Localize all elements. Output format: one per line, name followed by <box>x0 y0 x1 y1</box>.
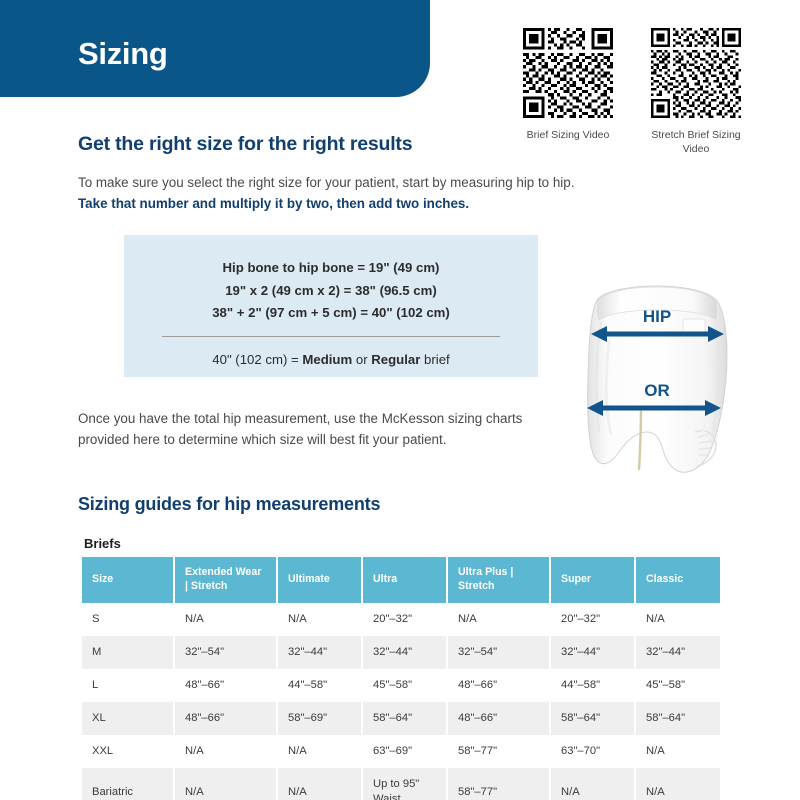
cell-extended-wear: 48"–66" <box>174 669 277 702</box>
cell-ultra: 20"–32" <box>362 603 447 636</box>
cell-size: XXL <box>82 735 174 768</box>
cell-size: M <box>82 636 174 669</box>
cell-ultra: 63"–69" <box>362 735 447 768</box>
hip-label: HIP <box>643 307 671 326</box>
cell-extended-wear: N/A <box>174 603 277 636</box>
calc-line-2: 19" x 2 (49 cm x 2) = 38" (96.5 cm) <box>154 280 508 303</box>
calc-divider <box>162 336 500 337</box>
cell-extended-wear: 32"–54" <box>174 636 277 669</box>
cell-super: 32"–44" <box>550 636 635 669</box>
column-header-classic: Classic <box>635 557 720 603</box>
sizing-page: Sizing <box>0 0 800 800</box>
product-illustration: HIP OR <box>575 282 745 477</box>
qr-item-brief[interactable]: Brief Sizing Video <box>520 28 616 156</box>
calc-result-prefix: 40" (102 cm) = <box>212 352 302 367</box>
sizing-guides-heading: Sizing guides for hip measurements <box>78 494 380 515</box>
section-heading: Get the right size for the right results <box>78 133 412 156</box>
cell-ultra: 58"–64" <box>362 702 447 735</box>
qr-code-icon[interactable] <box>523 28 613 118</box>
cell-super: 44"–58" <box>550 669 635 702</box>
calc-result-mid: or <box>352 352 371 367</box>
column-header-extended-wear-stretch: Extended Wear | Stretch <box>174 557 277 603</box>
table-label-briefs: Briefs <box>84 536 121 551</box>
cell-ultimate: N/A <box>277 603 362 636</box>
calc-result: 40" (102 cm) = Medium or Regular brief <box>154 350 508 370</box>
cell-ultra: Up to 95" Waist <box>362 768 447 800</box>
cell-ultimate: N/A <box>277 735 362 768</box>
cell-ultra-plus: 32"–54" <box>447 636 550 669</box>
cell-ultra: 45"–58" <box>362 669 447 702</box>
column-header-ultimate: Ultimate <box>277 557 362 603</box>
cell-ultra-plus: 48"–66" <box>447 669 550 702</box>
closing-paragraph: Once you have the total hip measurement,… <box>78 408 548 451</box>
cell-ultimate: N/A <box>277 768 362 800</box>
cell-classic: N/A <box>635 768 720 800</box>
cell-super: N/A <box>550 768 635 800</box>
cell-ultra-plus: N/A <box>447 603 550 636</box>
cell-ultimate: 32"–44" <box>277 636 362 669</box>
intro-plain-text: To make sure you select the right size f… <box>78 175 574 190</box>
or-label: OR <box>644 381 670 400</box>
cell-size: L <box>82 669 174 702</box>
cell-super: 20"–32" <box>550 603 635 636</box>
cell-classic: N/A <box>635 603 720 636</box>
qr-code-group: Brief Sizing Video <box>520 28 744 156</box>
cell-classic: 58"–64" <box>635 702 720 735</box>
qr-caption: Stretch Brief Sizing Video <box>648 128 744 156</box>
column-header-size: Size <box>82 557 174 603</box>
cell-super: 63"–70" <box>550 735 635 768</box>
cell-size: S <box>82 603 174 636</box>
table-row: M 32"–54" 32"–44" 32"–44" 32"–54" 32"–44… <box>82 636 720 669</box>
cell-ultra-plus: 58"–77" <box>447 735 550 768</box>
brief-product-image: HIP OR <box>575 282 745 477</box>
cell-super: 58"–64" <box>550 702 635 735</box>
qr-caption: Brief Sizing Video <box>527 128 610 142</box>
table-header-row: Size Extended Wear | Stretch Ultimate Ul… <box>82 557 720 603</box>
column-header-ultra: Ultra <box>362 557 447 603</box>
cell-classic: 45"–58" <box>635 669 720 702</box>
table-row: XL 48"–66" 58"–69" 58"–64" 48"–66" 58"–6… <box>82 702 720 735</box>
table-row: S N/A N/A 20"–32" N/A 20"–32" N/A <box>82 603 720 636</box>
briefs-sizing-table: Size Extended Wear | Stretch Ultimate Ul… <box>82 557 720 800</box>
qr-item-stretch-brief[interactable]: Stretch Brief Sizing Video <box>648 28 744 156</box>
calc-line-1: Hip bone to hip bone = 19" (49 cm) <box>154 257 508 280</box>
cell-ultimate: 58"–69" <box>277 702 362 735</box>
intro-paragraph: To make sure you select the right size f… <box>78 172 578 215</box>
column-header-super: Super <box>550 557 635 603</box>
calc-result-fit: Regular <box>371 352 420 367</box>
cell-classic: 32"–44" <box>635 636 720 669</box>
cell-size: Bariatric <box>82 768 174 800</box>
page-title: Sizing <box>78 36 167 72</box>
cell-ultra: 32"–44" <box>362 636 447 669</box>
calc-result-size: Medium <box>302 352 352 367</box>
table-row: XXL N/A N/A 63"–69" 58"–77" 63"–70" N/A <box>82 735 720 768</box>
table-row: Bariatric N/A N/A Up to 95" Waist 58"–77… <box>82 768 720 800</box>
qr-code-icon[interactable] <box>651 28 741 118</box>
cell-ultimate: 44"–58" <box>277 669 362 702</box>
cell-extended-wear: 48"–66" <box>174 702 277 735</box>
cell-extended-wear: N/A <box>174 735 277 768</box>
calculation-box: Hip bone to hip bone = 19" (49 cm) 19" x… <box>124 235 538 377</box>
calc-result-suffix: brief <box>420 352 449 367</box>
table-row: L 48"–66" 44"–58" 45"–58" 48"–66" 44"–58… <box>82 669 720 702</box>
header-band <box>0 0 430 97</box>
intro-bold-text: Take that number and multiply it by two,… <box>78 196 469 211</box>
calc-line-3: 38" + 2" (97 cm + 5 cm) = 40" (102 cm) <box>154 302 508 325</box>
column-header-ultra-plus-stretch: Ultra Plus | Stretch <box>447 557 550 603</box>
cell-size: XL <box>82 702 174 735</box>
cell-ultra-plus: 48"–66" <box>447 702 550 735</box>
cell-extended-wear: N/A <box>174 768 277 800</box>
cell-ultra-plus: 58"–77" <box>447 768 550 800</box>
cell-classic: N/A <box>635 735 720 768</box>
